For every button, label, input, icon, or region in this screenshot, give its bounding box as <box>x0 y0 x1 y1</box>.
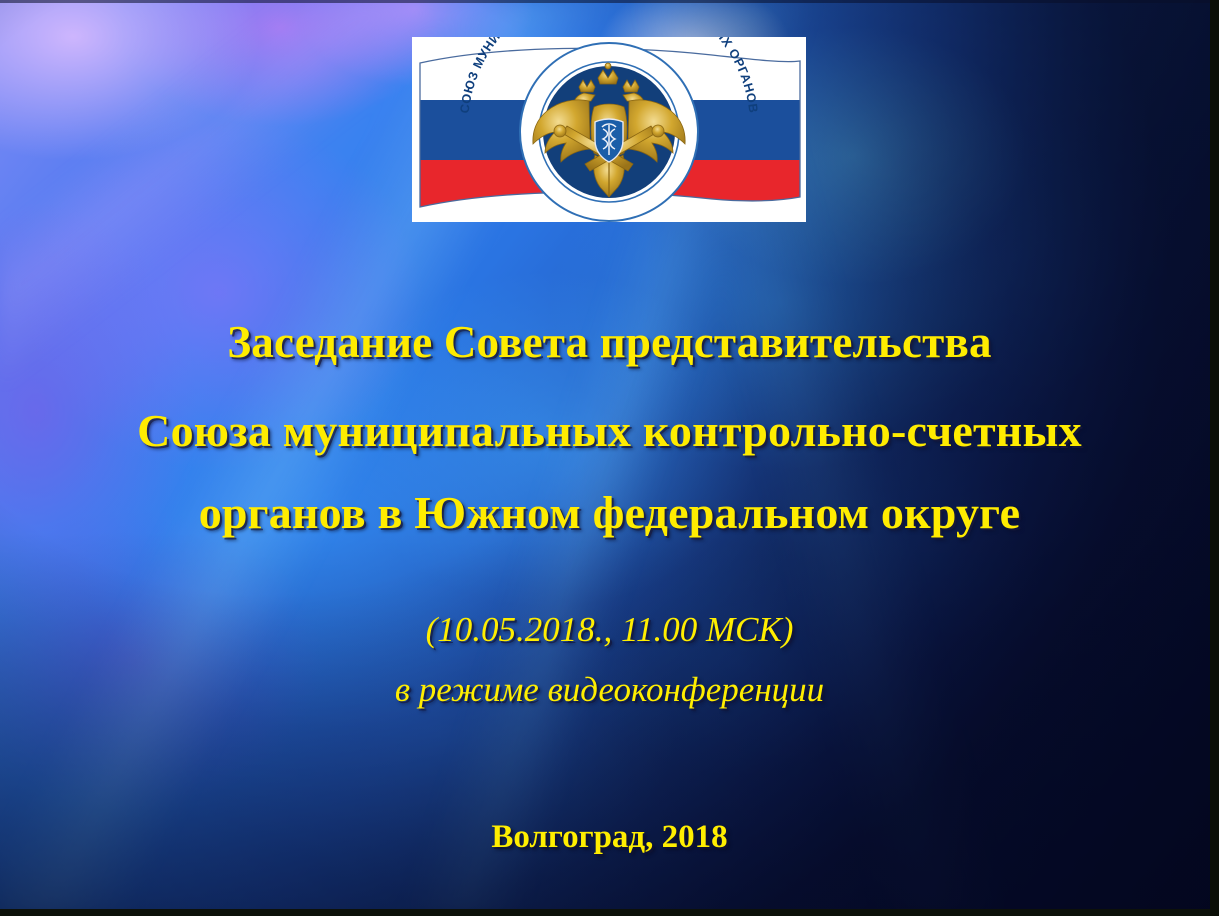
soyuz-mkso-logo-icon: СОЮЗ МУНИЦИПАЛЬНЫХ КОНТРОЛЬНО-СЧЕТНЫХ ОР… <box>412 37 806 222</box>
slide-title-line-3: органов в Южном федеральном округе <box>0 490 1219 536</box>
slide-title-line-1: Заседание Совета представительства <box>0 320 1219 365</box>
slide-title-line-2: Союза муниципальных контрольно-счетных <box>0 408 1219 454</box>
slide-subtitle-mode: в режиме видеоконференции <box>0 672 1219 707</box>
slide-place-year: Волгоград, 2018 <box>0 821 1219 854</box>
soyuz-mkso-logo: СОЮЗ МУНИЦИПАЛЬНЫХ КОНТРОЛЬНО-СЧЕТНЫХ ОР… <box>412 37 806 222</box>
presentation-slide: СОЮЗ МУНИЦИПАЛЬНЫХ КОНТРОЛЬНО-СЧЕТНЫХ ОР… <box>0 0 1219 916</box>
slide-subtitle-datetime: (10.05.2018., 11.00 МСК) <box>0 612 1219 647</box>
